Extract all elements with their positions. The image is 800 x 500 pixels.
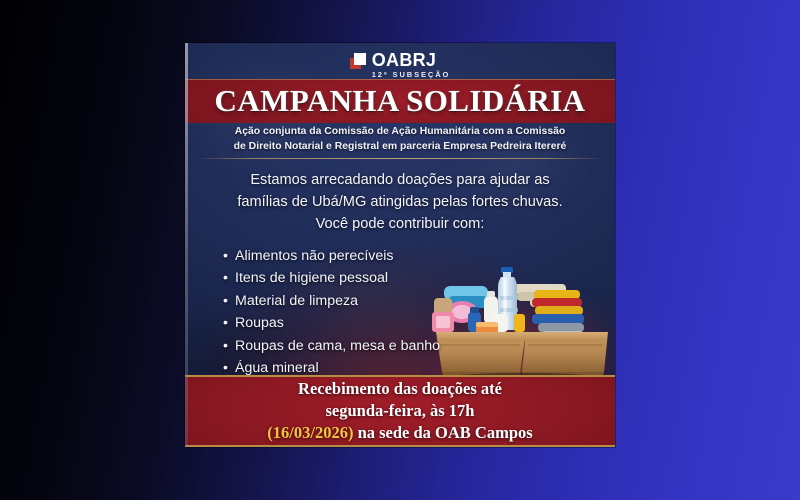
bullet-icon: • [223, 335, 235, 357]
subtitle-line-2: de Direito Notarial e Registral em parce… [199, 139, 601, 154]
intro-line-1: Estamos arrecadando doações para ajudar … [203, 170, 597, 192]
list-item-label: Roupas de cama, mesa e banho [235, 338, 440, 354]
list-item: •Roupas [223, 312, 440, 334]
bullet-icon: • [223, 290, 235, 312]
oab-square-logo-mark-icon [350, 53, 367, 70]
logo-white-square [354, 53, 366, 65]
bullet-icon: • [223, 312, 235, 334]
donation-boxes-illustration [422, 250, 615, 383]
list-item-label: Itens de higiene pessoal [235, 270, 388, 286]
list-item-label: Alimentos não perecíveis [235, 248, 394, 264]
donation-items-list: •Alimentos não perecíveis •Itens de higi… [223, 245, 440, 380]
logo-name: OABRJ [372, 51, 451, 69]
deadline-banner: Recebimento das doações até segunda-feir… [185, 375, 615, 447]
intro-line-2: famílias de Ubá/MG atingidas pelas forte… [203, 192, 597, 214]
logo-text: OABRJ 12ª SUBSEÇÃO [372, 51, 451, 79]
list-item: •Roupas de cama, mesa e banho [223, 335, 440, 357]
campaign-poster: OABRJ 12ª SUBSEÇÃO CAMPANHA SOLIDÁRIA Aç… [185, 43, 615, 447]
screenshot-canvas: OABRJ 12ª SUBSEÇÃO CAMPANHA SOLIDÁRIA Aç… [0, 0, 800, 500]
oabrj-logo: OABRJ 12ª SUBSEÇÃO [185, 49, 615, 81]
intro-text: Estamos arrecadando doações para ajudar … [203, 170, 597, 236]
donation-boxes-photo [422, 250, 615, 383]
list-item-label: Roupas [235, 315, 284, 331]
deadline-date: (16/03/2026) [267, 423, 353, 442]
subtitle-line-1: Ação conjunta da Comissão de Ação Humani… [199, 124, 601, 139]
subtitle: Ação conjunta da Comissão de Ação Humani… [199, 124, 601, 154]
left-box [436, 332, 526, 378]
bullet-icon: • [223, 245, 235, 267]
intro-line-3: Você pode contribuir com: [203, 214, 597, 236]
right-box [522, 332, 608, 378]
page-title: CAMPANHA SOLIDÁRIA [215, 83, 586, 119]
deadline-line-3: (16/03/2026) na sede da OAB Campos [267, 422, 532, 444]
list-item-label: Material de limpeza [235, 293, 358, 309]
deadline-location: na sede da OAB Campos [353, 423, 532, 442]
poster-left-edge-highlight [185, 43, 188, 447]
bullet-icon: • [223, 267, 235, 289]
list-item: •Itens de higiene pessoal [223, 267, 440, 289]
logo-inner: OABRJ 12ª SUBSEÇÃO [350, 51, 451, 79]
deadline-line-1: Recebimento das doações até [298, 378, 502, 400]
deadline-line-2: segunda-feira, às 17h [326, 400, 475, 422]
list-item: •Material de limpeza [223, 290, 440, 312]
title-banner: CAMPANHA SOLIDÁRIA [185, 79, 615, 123]
list-item: •Alimentos não perecíveis [223, 245, 440, 267]
list-item-label: Água mineral [235, 360, 319, 376]
gold-divider [195, 158, 605, 159]
logo-subsection: 12ª SUBSEÇÃO [372, 71, 451, 79]
